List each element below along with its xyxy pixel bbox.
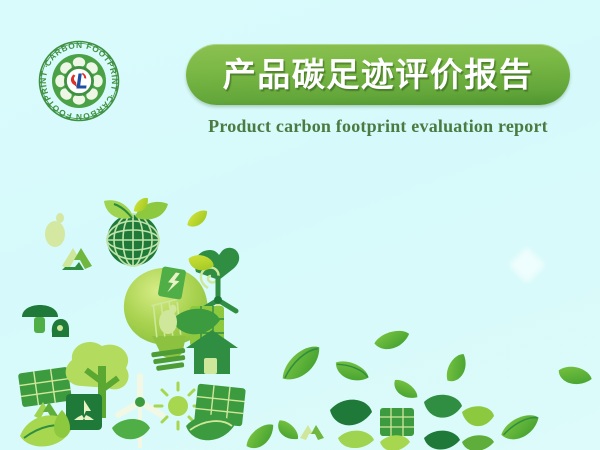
leaf-icon <box>390 375 420 404</box>
footprint-icon <box>45 213 65 247</box>
leaf-icon <box>380 435 410 450</box>
leaf-icon <box>498 411 543 444</box>
recycle-icon <box>300 425 324 440</box>
leaf-icon <box>338 431 374 448</box>
title-banner: 产品碳足迹评价报告 <box>186 44 570 105</box>
leaf-icon <box>441 351 472 386</box>
leaf-icon <box>462 435 494 450</box>
carbon-footprint-seal-logo: CARBON FOOTPRINT · CARBON FOOTPRINT · <box>36 38 122 124</box>
solar-panel-icon <box>18 367 72 408</box>
leaf-icon <box>274 416 301 445</box>
battery-icon <box>158 266 187 300</box>
leaf-icon <box>373 328 412 352</box>
leaf-icon <box>186 415 234 441</box>
leaf-icon <box>424 431 460 450</box>
leaf-icon <box>112 419 150 439</box>
leaf-icon <box>556 362 594 389</box>
cover-header: CARBON FOOTPRINT · CARBON FOOTPRINT · <box>0 0 600 165</box>
solar-panel-icon <box>380 408 414 436</box>
globe-icon <box>107 214 159 266</box>
hand-icon <box>52 319 69 337</box>
recycle-icon <box>66 394 102 430</box>
page-subtitle: Product carbon footprint evaluation repo… <box>186 116 570 137</box>
leaf-icon <box>242 420 279 450</box>
leaf-icon <box>462 406 494 426</box>
leaf-icon <box>184 208 211 230</box>
page-title: 产品碳足迹评价报告 <box>223 58 534 91</box>
report-cover-page: CARBON FOOTPRINT · CARBON FOOTPRINT · <box>0 0 600 450</box>
leaf-icon <box>424 395 462 418</box>
leaf-icon <box>330 400 372 426</box>
leaf-icon <box>332 356 372 388</box>
eco-icon-footprint-collage <box>0 170 600 450</box>
recycle-icon <box>62 248 92 270</box>
leaf-icon <box>276 341 327 387</box>
